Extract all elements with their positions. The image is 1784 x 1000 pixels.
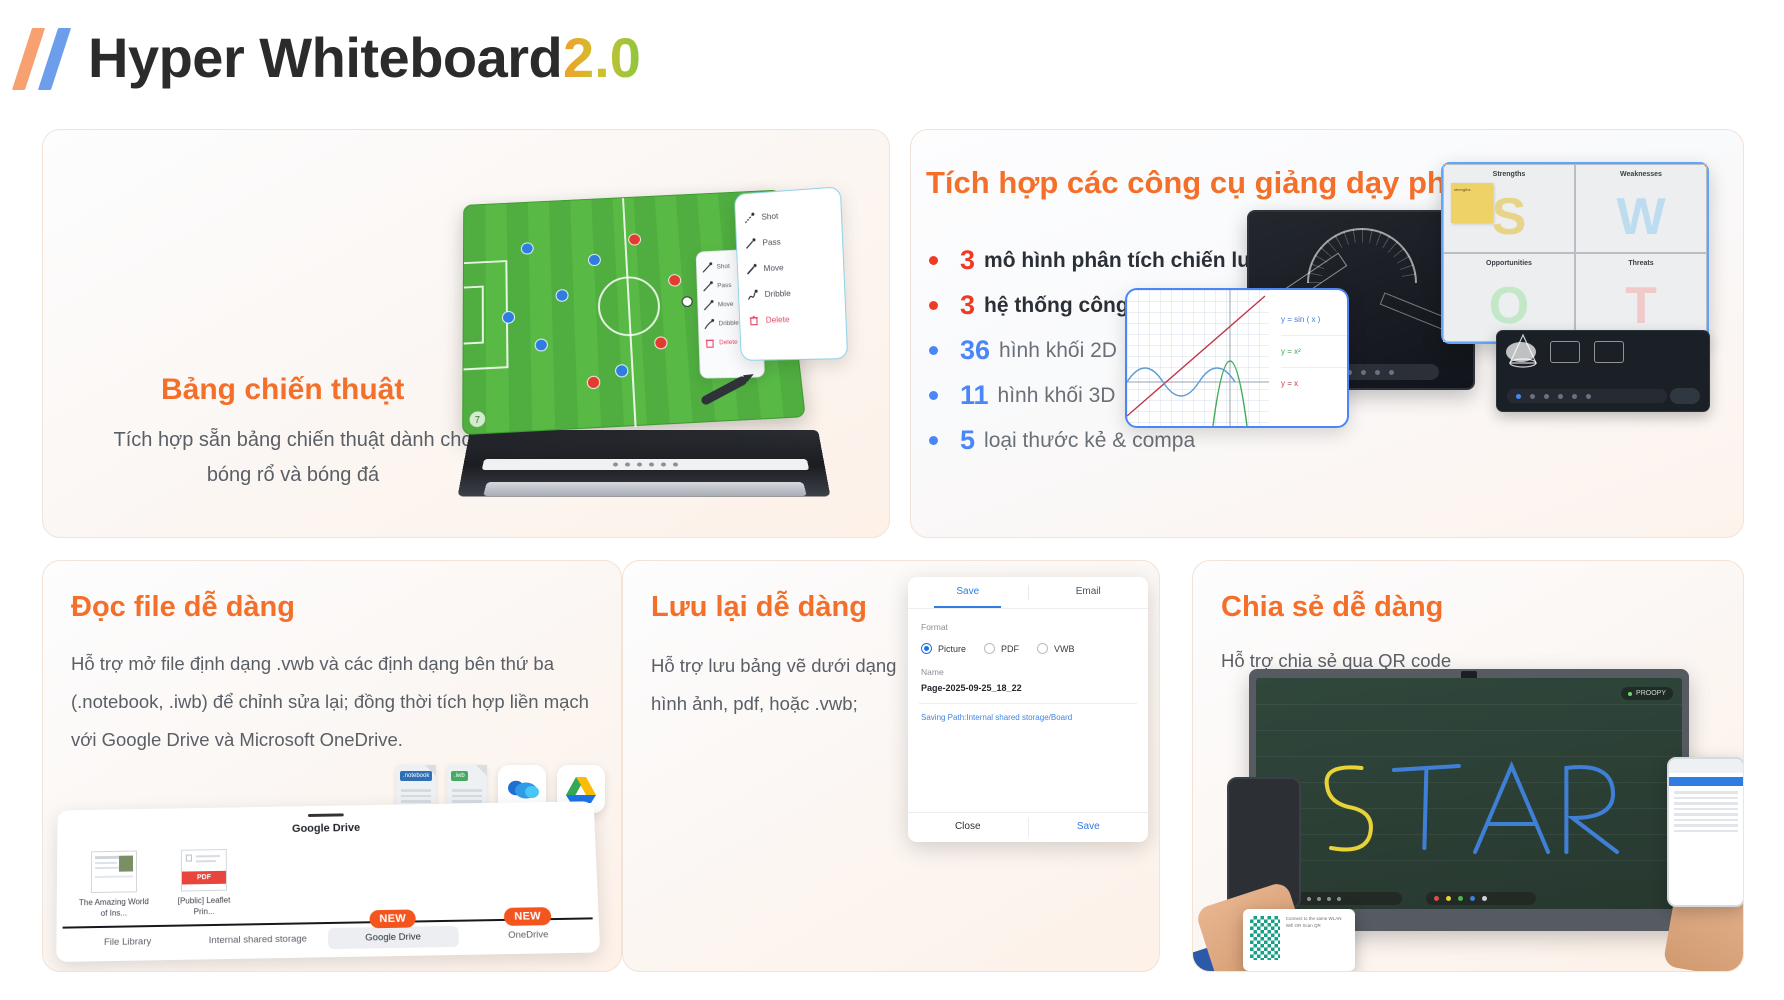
legend-item: y = sin ( x ) bbox=[1281, 304, 1349, 336]
graph-plot-area bbox=[1127, 290, 1269, 426]
tool-delete-label: Delete bbox=[766, 314, 790, 325]
tab-onedrive[interactable]: NEW OneDrive bbox=[463, 923, 594, 946]
rect-icon bbox=[1594, 341, 1624, 363]
card-tactics-title: Bảng chiến thuật bbox=[161, 373, 404, 407]
share-illustration: PROOPY bbox=[1207, 663, 1744, 963]
card-tactics-description: Tích hợp sẵn bảng chiến thuật dành cho b… bbox=[98, 423, 488, 493]
card-read-description: Hỗ trợ mở file định dạng .vwb và các địn… bbox=[71, 645, 591, 759]
save-dialog: Save Email Format Picture PDF VWB bbox=[908, 577, 1148, 842]
file-name: [Public] Leaflet Prin... bbox=[167, 895, 241, 918]
qr-instructions: Connect to the same WLAN Wifi OR Scan QR bbox=[1286, 916, 1348, 964]
card-read-file: Đọc file dễ dàng Hỗ trợ mở file định dạn… bbox=[42, 560, 622, 972]
file-thumbnail bbox=[91, 851, 137, 894]
panel-title: Google Drive bbox=[57, 818, 594, 839]
bullet-text: hình khối 2D bbox=[999, 339, 1117, 363]
swot-quadrant-strengths: Strengths strengths S bbox=[1443, 164, 1575, 253]
bullet-text: loại thước kẻ & compa bbox=[984, 429, 1195, 453]
status-badge: PROOPY bbox=[1621, 687, 1673, 700]
card-read-title: Đọc file dễ dàng bbox=[71, 591, 295, 624]
shapes-dock[interactable] bbox=[1507, 389, 1667, 403]
storage-tabs: File Library Internal shared storage NEW… bbox=[62, 917, 594, 956]
legend-item: y = x² bbox=[1281, 336, 1349, 368]
legend-item: y = x bbox=[1281, 368, 1349, 399]
bullet-number: 3 bbox=[960, 290, 975, 321]
file-thumbnail: PDF bbox=[181, 849, 227, 892]
color-palette[interactable] bbox=[1426, 892, 1536, 905]
bullet-text: hình khối 3D bbox=[998, 384, 1116, 408]
format-radio-group: Picture PDF VWB bbox=[921, 643, 1148, 654]
bullet-dot-icon bbox=[929, 436, 938, 445]
swot-label: Strengths bbox=[1444, 171, 1574, 178]
version-label: 2.0 bbox=[563, 22, 641, 94]
card-share-title: Chia sẻ dễ dàng bbox=[1221, 591, 1443, 624]
tool-move-label: Move bbox=[763, 262, 783, 273]
file-item[interactable]: PDF [Public] Leaflet Prin... bbox=[167, 849, 241, 919]
new-badge: NEW bbox=[369, 909, 416, 928]
radio-picture[interactable]: Picture bbox=[921, 643, 966, 654]
swot-letter: T bbox=[1576, 280, 1706, 332]
swot-quadrant-opportunities: Opportunities O bbox=[1443, 253, 1575, 342]
swot-quadrant-threats: Threats T bbox=[1575, 253, 1707, 342]
handwriting-star bbox=[1256, 748, 1682, 868]
file-item[interactable]: The Amazing World of Ins... bbox=[77, 850, 151, 920]
tool-delete[interactable]: Delete bbox=[748, 304, 837, 333]
swot-letter: O bbox=[1444, 280, 1574, 332]
tab-google-drive[interactable]: NEW Google Drive bbox=[328, 925, 459, 948]
file-name: The Amazing World of Ins... bbox=[77, 897, 151, 920]
radio-pdf[interactable]: PDF bbox=[984, 643, 1019, 654]
whiteboard-screen: PROOPY bbox=[1256, 678, 1682, 909]
qr-share-card: Connect to the same WLAN Wifi OR Scan QR bbox=[1243, 909, 1355, 971]
card-tactics: Bảng chiến thuật Tích hợp sẵn bảng chiến… bbox=[42, 129, 890, 538]
shapes-3d-panel bbox=[1496, 330, 1710, 412]
name-input[interactable]: Page-2025-09-25_18_22 bbox=[921, 683, 1148, 693]
tool-move[interactable]: Move bbox=[746, 252, 835, 282]
tab-internal-storage[interactable]: Internal shared storage bbox=[193, 928, 323, 951]
cube-icon bbox=[1550, 341, 1580, 363]
page-header: Hyper Whiteboard 2.0 bbox=[0, 0, 1784, 125]
radio-indicator-icon bbox=[984, 643, 995, 654]
swot-letter: W bbox=[1576, 191, 1706, 243]
swot-matrix: Strengths strengths S Weaknesses W Oppor… bbox=[1441, 162, 1709, 344]
bullet-dot-icon bbox=[929, 301, 938, 310]
card-share: Chia sẻ dễ dàng Hỗ trợ chia sẻ qua QR co… bbox=[1192, 560, 1744, 972]
function-graph-panel: y = sin ( x ) y = x² y = x bbox=[1125, 288, 1349, 428]
saving-path-link[interactable]: Saving Path:Internal shared storage/Boar… bbox=[921, 713, 1148, 722]
bullet-text: mô hình phân tích chiến lược bbox=[984, 249, 1279, 273]
tool-pass-label: Pass bbox=[762, 237, 781, 248]
card-save: Lưu lại dễ dàng Hỗ trợ lưu bảng vẽ dưới … bbox=[622, 560, 1160, 972]
qr-code-icon bbox=[1250, 916, 1280, 960]
new-badge: NEW bbox=[504, 907, 551, 926]
pdf-badge: PDF bbox=[182, 871, 226, 885]
tool-dribble-label: Dribble bbox=[764, 288, 790, 299]
graph-legend: y = sin ( x ) y = x² y = x bbox=[1273, 290, 1349, 426]
swot-label: Threats bbox=[1576, 260, 1706, 267]
save-button[interactable]: Save bbox=[1029, 813, 1149, 842]
tab-save[interactable]: Save bbox=[908, 577, 1028, 608]
tool-dribble[interactable]: Dribble bbox=[747, 278, 836, 307]
bullet-dot-icon bbox=[929, 256, 938, 265]
bullet-number: 5 bbox=[960, 425, 975, 456]
swot-label: Opportunities bbox=[1444, 260, 1574, 267]
card-teaching-tools: Tích hợp các công cụ giảng dạy phong phú… bbox=[910, 129, 1744, 538]
card-save-title: Lưu lại dễ dàng bbox=[651, 591, 867, 624]
tactics-tool-list[interactable]: Shot Pass Move Dribble Delete bbox=[734, 186, 848, 361]
pitch-marker: 7 bbox=[470, 411, 486, 427]
bullet-dot-icon bbox=[929, 346, 938, 355]
cone-icon bbox=[1506, 333, 1540, 371]
page-root: Hyper Whiteboard 2.0 Bảng chiến thuật Tí… bbox=[0, 0, 1784, 1000]
bullet-number: 11 bbox=[960, 380, 989, 411]
format-label: Format bbox=[921, 622, 1148, 632]
radio-vwb[interactable]: VWB bbox=[1037, 643, 1075, 654]
swot-label: Weaknesses bbox=[1576, 171, 1706, 178]
card-save-description: Hỗ trợ lưu bảng vẽ dưới dạng hình ảnh, p… bbox=[651, 647, 901, 723]
panel-handle bbox=[308, 813, 344, 817]
bullet-number: 3 bbox=[960, 245, 975, 276]
radio-indicator-icon bbox=[1037, 643, 1048, 654]
page-title: Hyper Whiteboard bbox=[88, 22, 562, 94]
file-library-panel: Google Drive The Amazing World of Ins... bbox=[56, 801, 600, 962]
swot-quadrant-weaknesses: Weaknesses W bbox=[1575, 164, 1707, 253]
tactics-illustration: 7 Shot Pass Move Dribble bbox=[463, 180, 873, 525]
tab-file-library[interactable]: File Library bbox=[62, 930, 192, 953]
bullet-dot-icon bbox=[929, 391, 938, 400]
tool-shot-label: Shot bbox=[761, 211, 778, 222]
swot-letter: S bbox=[1444, 191, 1574, 243]
tab-email[interactable]: Email bbox=[1029, 577, 1149, 608]
save-dialog-footer: Close Save bbox=[908, 812, 1148, 842]
name-label: Name bbox=[921, 667, 1148, 677]
display-base bbox=[483, 482, 807, 496]
interactive-whiteboard: PROOPY bbox=[1249, 669, 1689, 931]
double-slash-icon bbox=[18, 28, 86, 90]
phone-right bbox=[1667, 757, 1744, 907]
file-browser-illustration: .notebook .iwb bbox=[53, 765, 613, 965]
display-toolbar bbox=[482, 459, 809, 470]
radio-indicator-icon bbox=[921, 643, 932, 654]
shapes-dock-right[interactable] bbox=[1670, 388, 1700, 404]
bullet-number: 36 bbox=[960, 335, 990, 366]
save-dialog-tabs: Save Email bbox=[908, 577, 1148, 609]
close-button[interactable]: Close bbox=[908, 813, 1028, 842]
